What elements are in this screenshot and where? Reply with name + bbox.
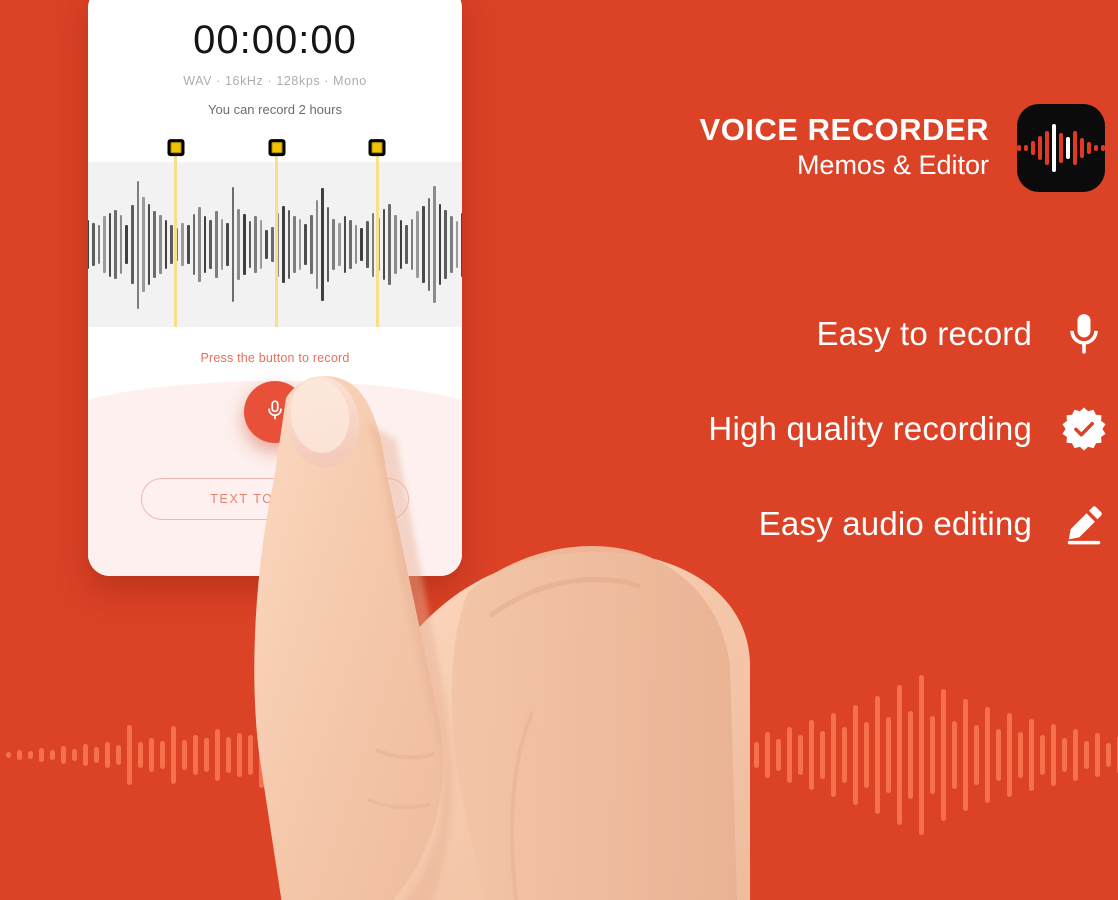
- waveform-bar: [271, 227, 274, 263]
- background-waveform-bar: [28, 751, 33, 759]
- app-icon-bar: [1059, 133, 1063, 163]
- waveform-bar: [181, 223, 184, 267]
- pointing-hand-illustration: [190, 330, 750, 900]
- app-icon-bar: [1031, 141, 1035, 155]
- waveform-bar: [120, 215, 123, 274]
- waveform-bar: [137, 181, 140, 309]
- verified-badge-icon: [1058, 403, 1110, 455]
- waveform-marker[interactable]: [275, 148, 278, 327]
- background-waveform-bar: [39, 748, 44, 762]
- waveform-editor[interactable]: [88, 162, 462, 327]
- waveform-bar: [338, 223, 341, 267]
- background-waveform-bar: [127, 725, 132, 785]
- app-icon-bar: [1101, 145, 1105, 151]
- waveform-bar: [165, 220, 168, 269]
- waveform-marker[interactable]: [174, 148, 177, 327]
- waveform-bar: [360, 228, 363, 261]
- waveform-bar: [142, 197, 145, 292]
- waveform-bar: [316, 200, 319, 290]
- waveform-bar: [153, 211, 156, 278]
- waveform-bar: [433, 186, 436, 304]
- waveform-bar: [288, 210, 291, 279]
- waveform-bar: [232, 187, 235, 302]
- waveform-bar: [187, 225, 190, 263]
- background-waveform-bar: [171, 726, 176, 784]
- audio-format-meta: WAV · 16kHz · 128kps · Mono: [88, 74, 462, 88]
- background-waveform-bar: [61, 746, 66, 764]
- waveform-bar: [416, 211, 419, 278]
- waveform-bar: [265, 230, 268, 258]
- background-waveform-bar: [50, 750, 55, 760]
- waveform-bar: [92, 223, 95, 267]
- voice-recorder-app-icon[interactable]: [1017, 104, 1105, 192]
- background-waveform-bar: [182, 740, 187, 770]
- feature-label: High quality recording: [708, 410, 1032, 448]
- app-icon-bar: [1080, 138, 1084, 158]
- capacity-hint: You can record 2 hours: [88, 102, 462, 117]
- app-icon-bar: [1087, 142, 1091, 154]
- waveform-bar: [355, 225, 358, 263]
- app-icon-bar: [1073, 131, 1077, 165]
- waveform-bar: [282, 206, 285, 283]
- waveform-bar: [388, 204, 391, 286]
- waveform-bar: [439, 204, 442, 286]
- feature-label: Easy to record: [816, 315, 1032, 353]
- waveform-bar: [293, 216, 296, 272]
- promo-banner: 00:00:00 WAV · 16kHz · 128kps · Mono You…: [0, 0, 1118, 900]
- waveform-bar: [159, 215, 162, 274]
- app-icon-bar: [1024, 145, 1028, 151]
- waveform-bar: [428, 198, 431, 290]
- waveform-bar: [249, 221, 252, 267]
- waveform-bar: [444, 210, 447, 279]
- waveform-bar: [332, 219, 335, 270]
- waveform-bar: [461, 213, 462, 277]
- waveform-bar: [349, 220, 352, 269]
- waveform-bar: [243, 214, 246, 275]
- recording-timer: 00:00:00: [88, 20, 462, 60]
- waveform-bar: [98, 225, 101, 263]
- background-waveform-bar: [105, 742, 110, 768]
- waveform-bar: [114, 210, 117, 279]
- background-waveform-bar: [116, 745, 121, 765]
- waveform-bar: [254, 216, 257, 272]
- waveform-bar: [344, 216, 347, 272]
- app-title: VOICE RECORDER: [585, 114, 989, 147]
- waveform-bar: [237, 209, 240, 281]
- waveform-bar: [327, 207, 330, 281]
- background-waveform-bar: [138, 742, 143, 768]
- app-subtitle: Memos & Editor: [585, 149, 989, 181]
- waveform-bar: [405, 225, 408, 263]
- waveform-bar: [304, 224, 307, 265]
- waveform-bar: [422, 206, 425, 283]
- background-waveform-bar: [17, 750, 22, 760]
- waveform-bar: [310, 215, 313, 274]
- waveform-bar: [400, 220, 403, 269]
- waveform-bar: [366, 221, 369, 267]
- waveform-bar: [260, 220, 263, 269]
- waveform-marker-handle[interactable]: [167, 139, 184, 156]
- waveform-bar: [204, 216, 207, 272]
- waveform-bar: [131, 205, 134, 284]
- waveform-bar: [209, 220, 212, 269]
- waveform-bar: [226, 223, 229, 267]
- waveform-bar: [88, 220, 89, 269]
- background-waveform-bar: [94, 747, 99, 763]
- waveform-bar: [103, 216, 106, 272]
- microphone-icon: [1058, 308, 1110, 360]
- waveform-bar: [215, 211, 218, 278]
- app-icon-bar: [1094, 145, 1098, 151]
- app-icon-bar: [1045, 131, 1049, 165]
- waveform-bar: [198, 207, 201, 281]
- app-icon-bar: [1017, 145, 1021, 151]
- waveform-bar: [193, 214, 196, 275]
- feature-label: Easy audio editing: [759, 505, 1032, 543]
- waveform-bar: [456, 221, 459, 267]
- waveform-marker-handle[interactable]: [268, 139, 285, 156]
- waveform-bar: [109, 213, 112, 277]
- waveform-bar: [394, 215, 397, 274]
- waveform-bar: [148, 204, 151, 286]
- app-icon-bar: [1066, 137, 1070, 159]
- waveform-bar: [372, 213, 375, 277]
- background-waveform-bar: [72, 749, 77, 761]
- waveform-marker[interactable]: [376, 148, 379, 327]
- background-waveform-bar: [83, 744, 88, 766]
- waveform-bar: [299, 219, 302, 270]
- background-waveform-bar: [149, 738, 154, 772]
- app-icon-bar: [1038, 136, 1042, 160]
- background-waveform-bar: [160, 741, 165, 769]
- waveform-bar: [321, 188, 324, 301]
- pencil-edit-icon: [1058, 498, 1110, 550]
- brand-header: VOICE RECORDER Memos & Editor: [585, 104, 1105, 192]
- waveform-bar: [450, 216, 453, 272]
- waveform-bar: [221, 219, 224, 270]
- waveform-bar: [411, 219, 414, 270]
- waveform-bar: [125, 225, 128, 263]
- app-icon-bar: [1052, 124, 1056, 172]
- recorder-header: 00:00:00 WAV · 16kHz · 128kps · Mono You…: [88, 0, 462, 162]
- waveform-bar: [383, 209, 386, 281]
- background-waveform-bar: [6, 752, 11, 758]
- waveform-marker-handle[interactable]: [369, 139, 386, 156]
- waveform-bar: [170, 225, 173, 263]
